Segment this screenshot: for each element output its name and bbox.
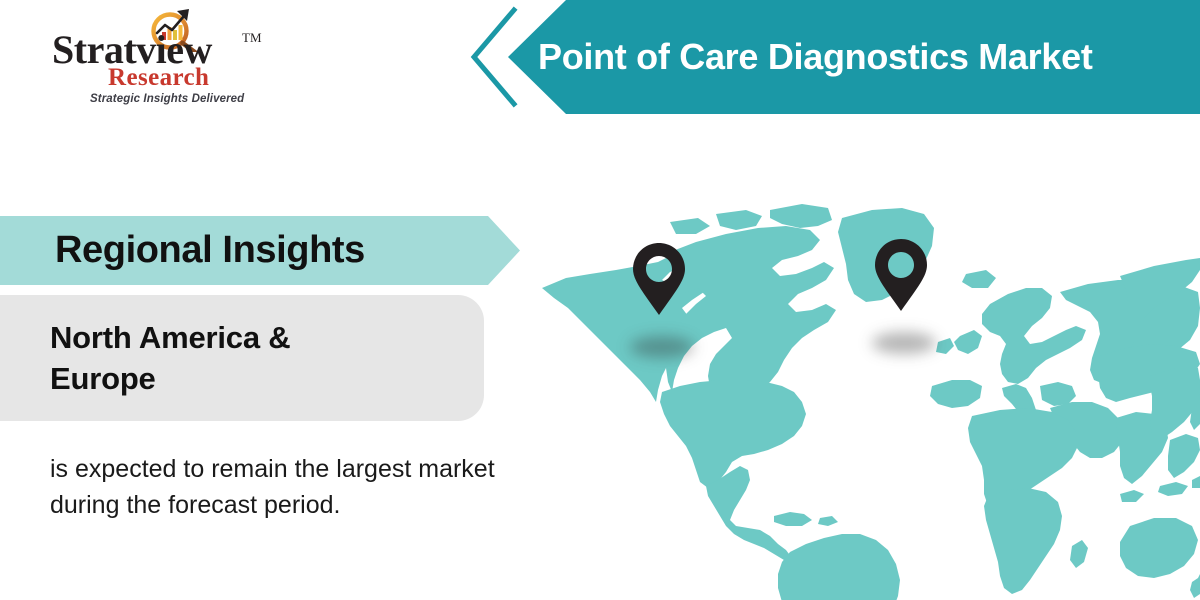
logo-second-line: Research	[108, 65, 209, 90]
pin-shadow-europe	[872, 332, 936, 354]
region-name-label: North America & Europe	[50, 317, 380, 399]
world-map-svg	[520, 196, 1200, 600]
header-banner: Point of Care Diagnostics Market	[462, 0, 1200, 114]
page-title: Point of Care Diagnostics Market	[538, 0, 1154, 114]
region-highlight-box: North America & Europe	[0, 295, 484, 421]
logo-tagline: Strategic Insights Delivered	[90, 94, 244, 106]
map-pin-icon-europe[interactable]	[872, 238, 930, 312]
map-pin-icon-north-america[interactable]	[630, 242, 688, 316]
logo-trademark-icon: TM	[242, 30, 262, 46]
company-logo[interactable]: Stratview TM Research Strategic Insights…	[52, 8, 292, 110]
regional-insights-banner: Regional Insights	[0, 216, 520, 285]
region-description-text: is expected to remain the largest market…	[50, 452, 520, 523]
pin-shadow-north-america	[630, 336, 694, 358]
regional-insights-label: Regional Insights	[55, 229, 365, 272]
world-map	[520, 196, 1200, 600]
infographic-canvas: Stratview TM Research Strategic Insights…	[0, 0, 1200, 600]
